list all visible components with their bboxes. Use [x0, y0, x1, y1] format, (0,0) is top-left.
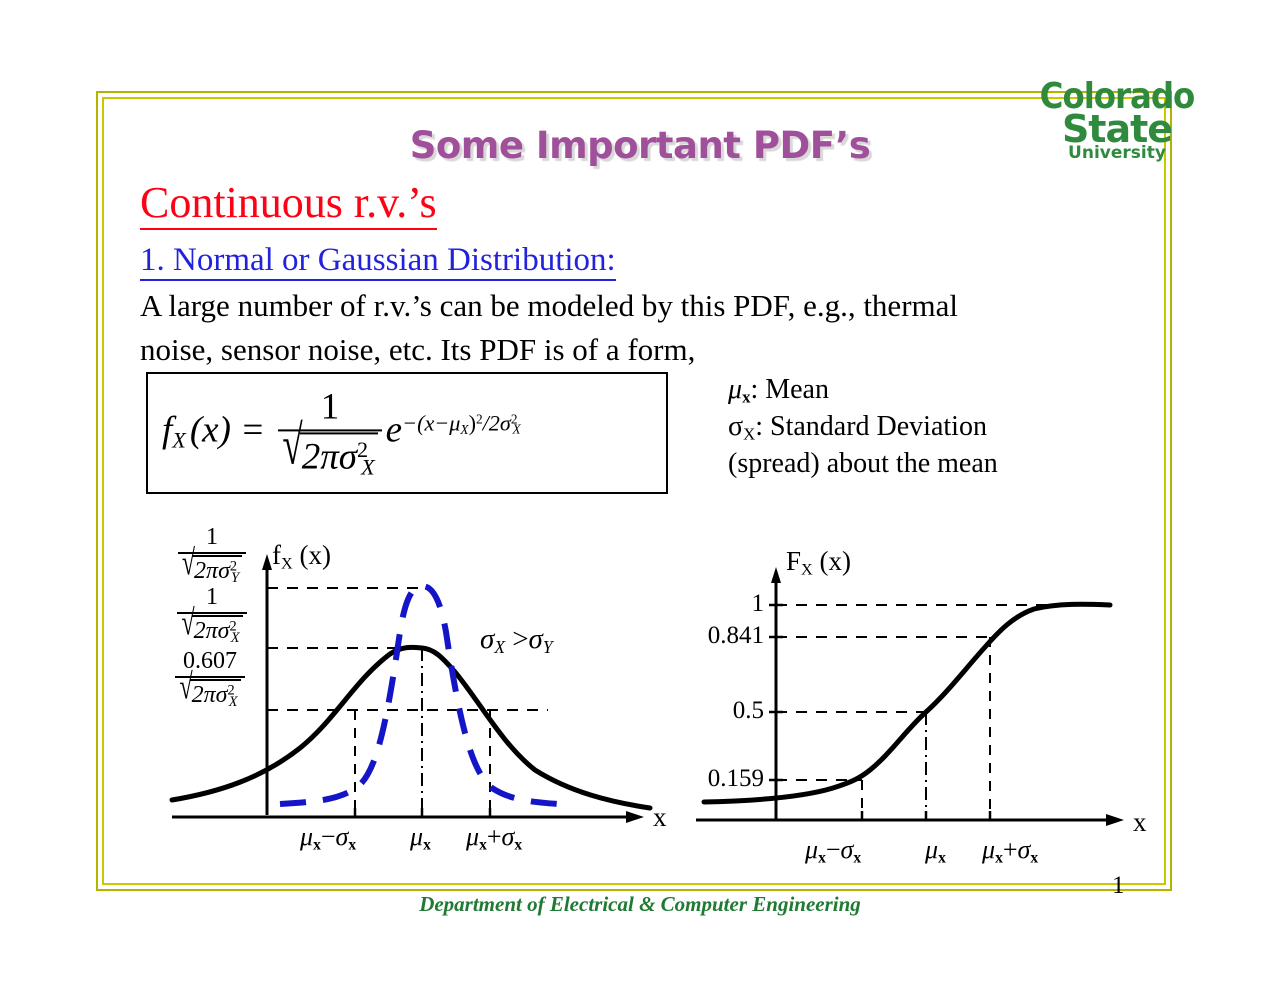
equation-exponent: −(x−μX)2/2σ2X [402, 410, 521, 435]
equation-exp-text: −(x−μ [402, 410, 460, 435]
cxt1-mu-sub: x [818, 849, 826, 866]
cxt1-mu: μ [805, 835, 818, 864]
legend-sigma-text: : Standard Deviation [755, 411, 987, 442]
equation-denominator: √2πσ2X [278, 431, 381, 480]
section-heading: Continuous r.v.’s [140, 180, 437, 230]
page-number: 1 [1112, 872, 1125, 900]
pdf-curve-sigma-y [280, 586, 558, 804]
pdf-y-axis-label: fX (x) [272, 540, 331, 574]
pdf-ytick-label-2: 1 √2πσ2X [156, 584, 268, 647]
pdf-sigma-comparison-annotation: σX >σY [480, 623, 553, 658]
pdf-ytick-2-sigma-subscript: X [231, 630, 240, 646]
equation-den-sigma-subscript: X [361, 455, 375, 480]
xt3-mu: μ [466, 822, 479, 851]
cdf-ytick-label-1: 1 [690, 590, 764, 618]
slide-root: Colorado State University Some Important… [0, 0, 1280, 989]
xt1-sigma-sub: x [348, 836, 356, 853]
radical-sign-icon: √ [182, 545, 195, 586]
xt1-operator: − [321, 822, 336, 851]
equation-exp-divisor-subscript: X [512, 422, 520, 437]
radical-sign-icon: √ [179, 669, 192, 710]
cxt3-mu: μ [982, 835, 995, 864]
equation-exp-mu-subscript: X [460, 422, 468, 437]
legend-spread-line: (spread) about the mean [728, 446, 998, 483]
cxt2-mu: μ [925, 835, 938, 864]
legend-mean-line: μx: Mean [728, 372, 998, 409]
cxt3-operator: + [1003, 835, 1018, 864]
xt2-mu: μ [410, 822, 423, 851]
cdf-y-axis-label: FX (x) [786, 546, 851, 580]
equation-den-two: 2 [302, 436, 321, 477]
cdf-ytick-label-2: 0.841 [690, 622, 764, 650]
equation-exp-power: 2 [476, 411, 483, 426]
annot-greater-than: > [512, 623, 528, 655]
cdf-ytick-label-4: 0.159 [690, 765, 764, 793]
cxt2-mu-sub: x [938, 849, 946, 866]
pdf-ytick-label-1: 1 √2πσ2Y [156, 524, 268, 587]
pdf-ytick-label-3: 0.607 √2πσ2X [150, 648, 270, 711]
legend-mu-symbol: μ [728, 374, 742, 405]
subsection-heading: 1. Normal or Gaussian Distribution: [140, 242, 616, 281]
pdf-x-axis-label: x [653, 802, 667, 833]
pdf-droplines [355, 648, 490, 815]
xt1-mu-sub: x [313, 836, 321, 853]
pdf-y-axis-label-subscript: X [281, 555, 293, 573]
cxt1-operator: − [826, 835, 841, 864]
slide-footer: Department of Electrical & Computer Engi… [0, 892, 1280, 917]
pdf-xtick-label-1: μx−σx [300, 822, 356, 854]
cdf-ytick-label-3: 0.5 [690, 697, 764, 725]
legend-sigma-symbol: σ [728, 411, 743, 442]
cdf-x-axis-label: x [1133, 807, 1147, 838]
pdf-xtick-label-2: μx [410, 822, 431, 854]
annot-sigma-1: σ [480, 623, 494, 655]
cdf-xtick-label-2: μx [925, 835, 946, 867]
pdf-equation: fX(x) = 1 √2πσ2X e−(x−μX)2/2σ2X [162, 385, 521, 480]
radical-sign-icon: √ [181, 605, 194, 646]
cdf-x-axis [696, 814, 1124, 826]
legend-mean-text: : Mean [750, 374, 829, 405]
annot-sigma-2: σ [529, 623, 543, 655]
xt3-operator: + [487, 822, 502, 851]
xt3-mu-sub: x [479, 836, 487, 853]
equation-den-pi: π [320, 436, 339, 477]
cdf-curve [704, 604, 1110, 802]
xt1-mu: μ [300, 822, 313, 851]
equation-exp-base: e [386, 409, 402, 450]
equation-exp-divisor: /2σ [483, 410, 511, 435]
body-text-line-1: A large number of r.v.’s can be modeled … [140, 288, 958, 324]
pdf-x-axis [172, 811, 644, 823]
pdf-y-axis-label-arg: (x) [299, 540, 330, 570]
body-text-line-2: noise, sensor noise, etc. Its PDF is of … [140, 332, 695, 368]
equation-lhs-f: f [162, 409, 172, 450]
cxt3-sigma: σ [1018, 835, 1031, 864]
pdf-ytick-1-denominator: √2πσ2Y [178, 554, 246, 587]
legend-sigma-subscript: X [743, 425, 755, 444]
xt1-sigma: σ [336, 822, 349, 851]
cdf-y-axis-label-F: F [786, 546, 801, 576]
cdf-xtick-label-3: μx+σx [982, 835, 1038, 867]
equation-den-sigma: σ [339, 436, 357, 477]
xt3-sigma: σ [502, 822, 515, 851]
xt2-mu-sub: x [423, 836, 431, 853]
pdf-xtick-label-3: μx+σx [466, 822, 522, 854]
cxt3-sigma-sub: x [1030, 849, 1038, 866]
legend-sigma-line: σX: Standard Deviation [728, 409, 998, 446]
pdf-ytick-3-denominator: √2πσ2X [175, 678, 244, 711]
xt3-sigma-sub: x [514, 836, 522, 853]
equation-fraction: 1 √2πσ2X [278, 385, 381, 480]
slide-title: Some Important PDF’s [0, 124, 1280, 167]
equation-lhs-argument: (x) = [190, 409, 265, 450]
equation-exp-close-paren: ) [469, 410, 476, 435]
annot-sigma-2-sub: Y [543, 637, 553, 657]
pdf-ytick-3-sigma-subscript: X [229, 694, 238, 710]
equation-legend: μx: Mean σX: Standard Deviation (spread)… [728, 372, 998, 483]
pdf-y-axis-label-f: f [272, 540, 281, 570]
annot-sigma-1-sub: X [494, 637, 505, 657]
pdf-ytick-2-denominator: √2πσ2X [177, 614, 246, 647]
cxt3-mu-sub: x [995, 849, 1003, 866]
cdf-chart: FX (x) x 1 0.841 0.5 0.159 [690, 530, 1150, 850]
cdf-xtick-label-1: μx−σx [805, 835, 861, 867]
cxt1-sigma: σ [841, 835, 854, 864]
cdf-chart-svg [690, 530, 1150, 850]
equation-lhs-subscript: X [172, 428, 186, 453]
cxt1-sigma-sub: x [853, 849, 861, 866]
equation-box: fX(x) = 1 √2πσ2X e−(x−μX)2/2σ2X [146, 372, 668, 494]
radical-sign-icon: √ [282, 414, 302, 479]
cdf-y-axis-label-subscript: X [801, 561, 813, 579]
cdf-y-axis-label-arg: (x) [819, 546, 850, 576]
